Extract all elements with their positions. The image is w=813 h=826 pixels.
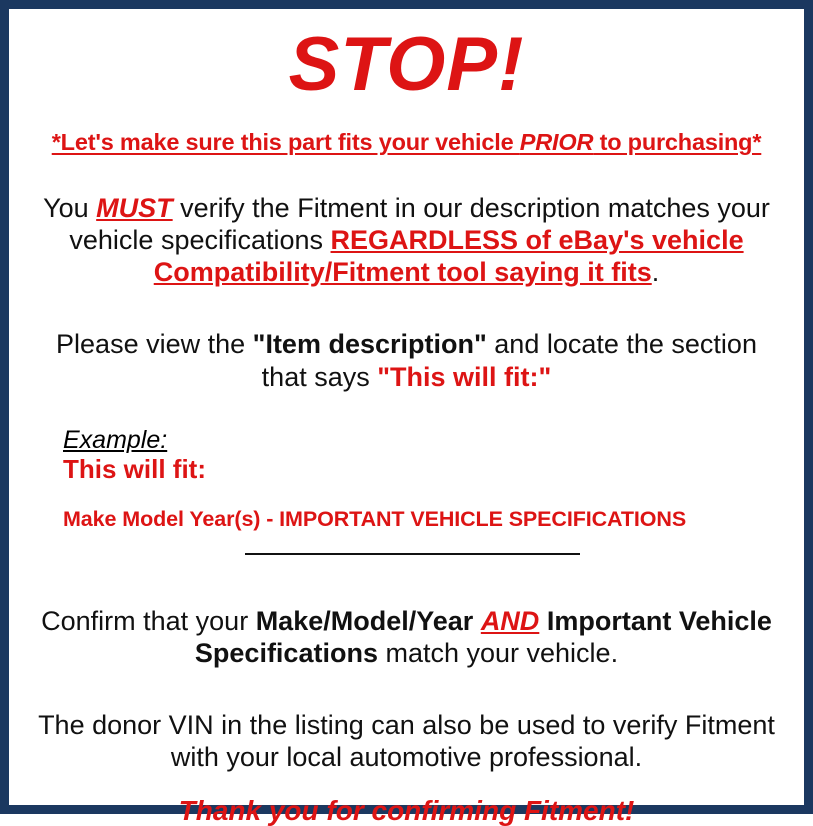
must-verify-paragraph: You MUST verify the Fitment in our descr… (23, 192, 790, 288)
example-fit-heading: This will fit: (63, 455, 790, 485)
view-part-1: Please view the (56, 329, 253, 359)
confirm-part-2: match your vehicle. (378, 638, 618, 668)
fitment-notice-card: STOP! *Let's make sure this part fits yo… (0, 0, 813, 814)
must-emphasis: MUST (96, 193, 173, 223)
page-title: STOP! (23, 27, 790, 103)
tagline-after: to purchasing* (593, 129, 761, 155)
example-block: Example: This will fit: Make Model Year(… (23, 427, 790, 532)
item-description-emphasis: "Item description" (253, 329, 487, 359)
notice-content: STOP! *Let's make sure this part fits yo… (9, 27, 804, 823)
tagline-emphasis: PRIOR (520, 129, 593, 155)
confirm-paragraph: Confirm that your Make/Model/Year AND Im… (23, 605, 790, 669)
and-emphasis: AND (481, 606, 540, 636)
must-part-1: You (43, 193, 96, 223)
tagline-before: *Let's make sure this part fits your veh… (52, 129, 520, 155)
example-label: Example: (63, 427, 790, 455)
closing-thank-you: Thank you for confirming Fitment! (23, 796, 790, 826)
view-description-paragraph: Please view the "Item description" and l… (23, 328, 790, 392)
this-will-fit-emphasis: "This will fit:" (377, 362, 551, 392)
make-model-year-emphasis: Make/Model/Year (256, 606, 474, 636)
must-part-3: . (652, 257, 660, 287)
example-spec-line: Make Model Year(s) - IMPORTANT VEHICLE S… (63, 507, 790, 532)
donor-vin-paragraph: The donor VIN in the listing can also be… (23, 709, 790, 773)
confirm-part-1: Confirm that your (41, 606, 256, 636)
divider-container (23, 553, 790, 567)
horizontal-divider (245, 553, 580, 555)
tagline: *Let's make sure this part fits your veh… (23, 129, 790, 156)
